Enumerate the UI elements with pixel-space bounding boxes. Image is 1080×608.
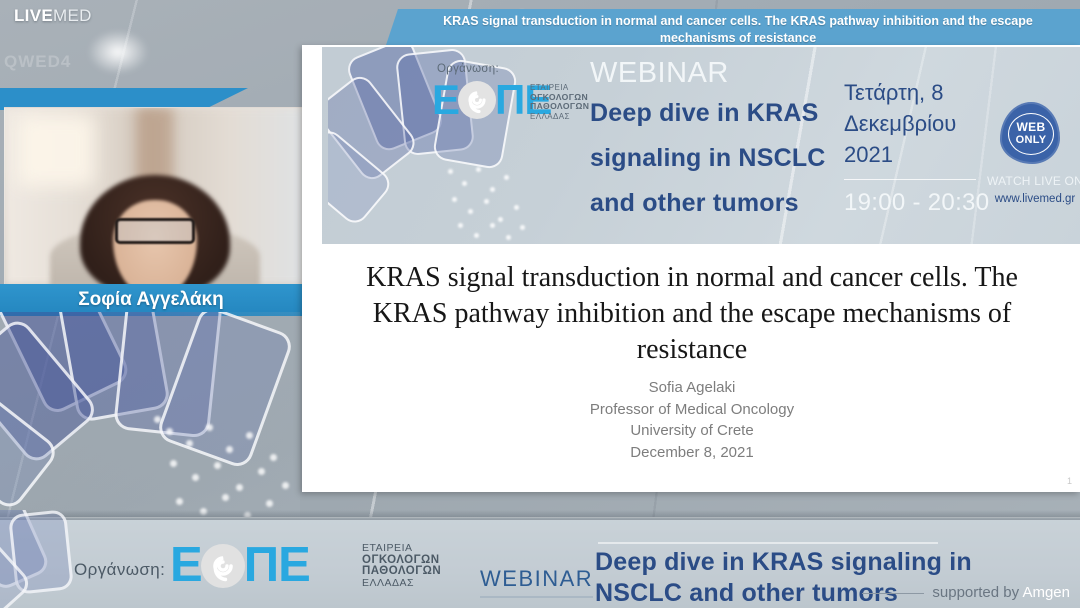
web-only-badge-line2: ONLY — [1016, 134, 1047, 147]
sponsor-leader-line — [862, 593, 924, 594]
slide-webinar-word: WEBINAR — [590, 57, 729, 90]
livemed-logo: LIVEMED — [14, 6, 92, 26]
society-line-4: ΕΛΛΑΔΑΣ — [530, 112, 589, 122]
eope-logo-footer: E ΠΕ — [170, 543, 310, 588]
footer-bar: Οργάνωση: E ΠΕ ΕΤΑΙΡΕΙΑ ΟΓΚΟΛΟΓΩΝ ΠΑΘΟΛΟ… — [0, 517, 1080, 608]
speaker-name-label: Σοφία Αγγελάκη — [78, 289, 224, 311]
spiral-icon — [457, 80, 497, 120]
eope-society-name-slide: ΕΤΑΙΡΕΙΑ ΟΓΚΟΛΟΓΩΝ ΠΑΘΟΛΟΓΩΝ ΕΛΛΑΔΑΣ — [530, 83, 589, 121]
slide-body-title: KRAS signal transduction in normal and c… — [362, 260, 1022, 368]
footer-card-fan — [0, 510, 114, 608]
screen-root: LIVEMED QWED4 KRAS signal transduction i… — [0, 0, 1080, 608]
slide-organizer-label: Οργάνωση: — [437, 63, 499, 75]
slide-presenter-block: Sofia Agelaki Professor of Medical Oncol… — [362, 377, 1022, 463]
web-only-badge-ring: WEB ONLY — [1008, 113, 1054, 155]
background-watermark: QWED4 — [4, 52, 71, 72]
eope-logo-letter-e: E — [170, 543, 202, 588]
slide-page-number: 1 — [1067, 476, 1072, 486]
watch-live-label: WATCH LIVE ON — [980, 174, 1080, 188]
society-line-3: ΠΑΘΟΛΟΓΩΝ — [530, 102, 589, 112]
web-only-badge: WEB ONLY — [1000, 102, 1060, 164]
presenter-role: Professor of Medical Oncology — [362, 399, 1022, 421]
eope-society-name-footer: ΕΤΑΙΡΕΙΑ ΟΓΚΟΛΟΓΩΝ ΠΑΘΟΛΟΓΩΝ ΕΛΛΑΔΑΣ — [362, 543, 441, 589]
video-window-light — [17, 115, 95, 186]
footer-webinar-word: WEBINAR — [480, 566, 593, 598]
slide-webinar-date: Τετάρτη, 8 Δεκεμβρίου 2021 — [844, 77, 984, 170]
presenter-name: Sofia Agelaki — [362, 377, 1022, 399]
header-banner-title: KRAS signal transduction in normal and c… — [410, 13, 1066, 47]
presentation-slide[interactable]: Οργάνωση: E ΠΕ ΕΤΑΙΡΕΙΑ ΟΓΚΟΛΟΓΩΝ ΠΑΘΟΛΟ… — [302, 45, 1080, 492]
livemed-logo-secondary: MED — [53, 6, 92, 25]
speaker-video[interactable] — [4, 107, 306, 286]
eope-logo-letter-e: E — [432, 80, 459, 120]
footer-divider — [598, 542, 938, 544]
eope-logo-letters-pe: ΠΕ — [244, 543, 310, 588]
presenter-affiliation: University of Crete — [362, 420, 1022, 442]
spiral-icon — [200, 543, 246, 589]
society-line-4: ΕΛΛΑΔΑΣ — [362, 578, 441, 590]
web-only-badge-line1: WEB — [1017, 121, 1046, 134]
presentation-date: December 8, 2021 — [362, 442, 1022, 464]
slide-header-banner: Οργάνωση: E ΠΕ ΕΤΑΙΡΕΙΑ ΟΓΚΟΛΟΓΩΝ ΠΑΘΟΛΟ… — [322, 47, 1080, 244]
society-line-3: ΠΑΘΟΛΟΓΩΝ — [362, 566, 441, 578]
slide-webinar-time: 19:00 - 20:30 — [844, 189, 989, 217]
footer-sponsor: supported by Amgen — [862, 584, 1070, 601]
slide-webinar-title: Deep dive in KRAS signaling in NSCLC and… — [590, 91, 840, 226]
sponsor-prefix: supported by — [932, 584, 1022, 601]
footer-organizer-label: Οργάνωση: — [74, 560, 165, 580]
website-url: www.livemed.gr — [980, 193, 1080, 205]
sponsor-name: Amgen — [1022, 584, 1070, 601]
footer-shadow — [0, 510, 1080, 520]
livemed-logo-primary: LIVE — [14, 6, 53, 25]
speaker-glasses — [115, 218, 195, 244]
society-line-1: ΕΤΑΙΡΕΙΑ — [362, 543, 441, 555]
decorative-card-fan — [0, 312, 300, 517]
slide-banner-divider — [844, 179, 976, 180]
